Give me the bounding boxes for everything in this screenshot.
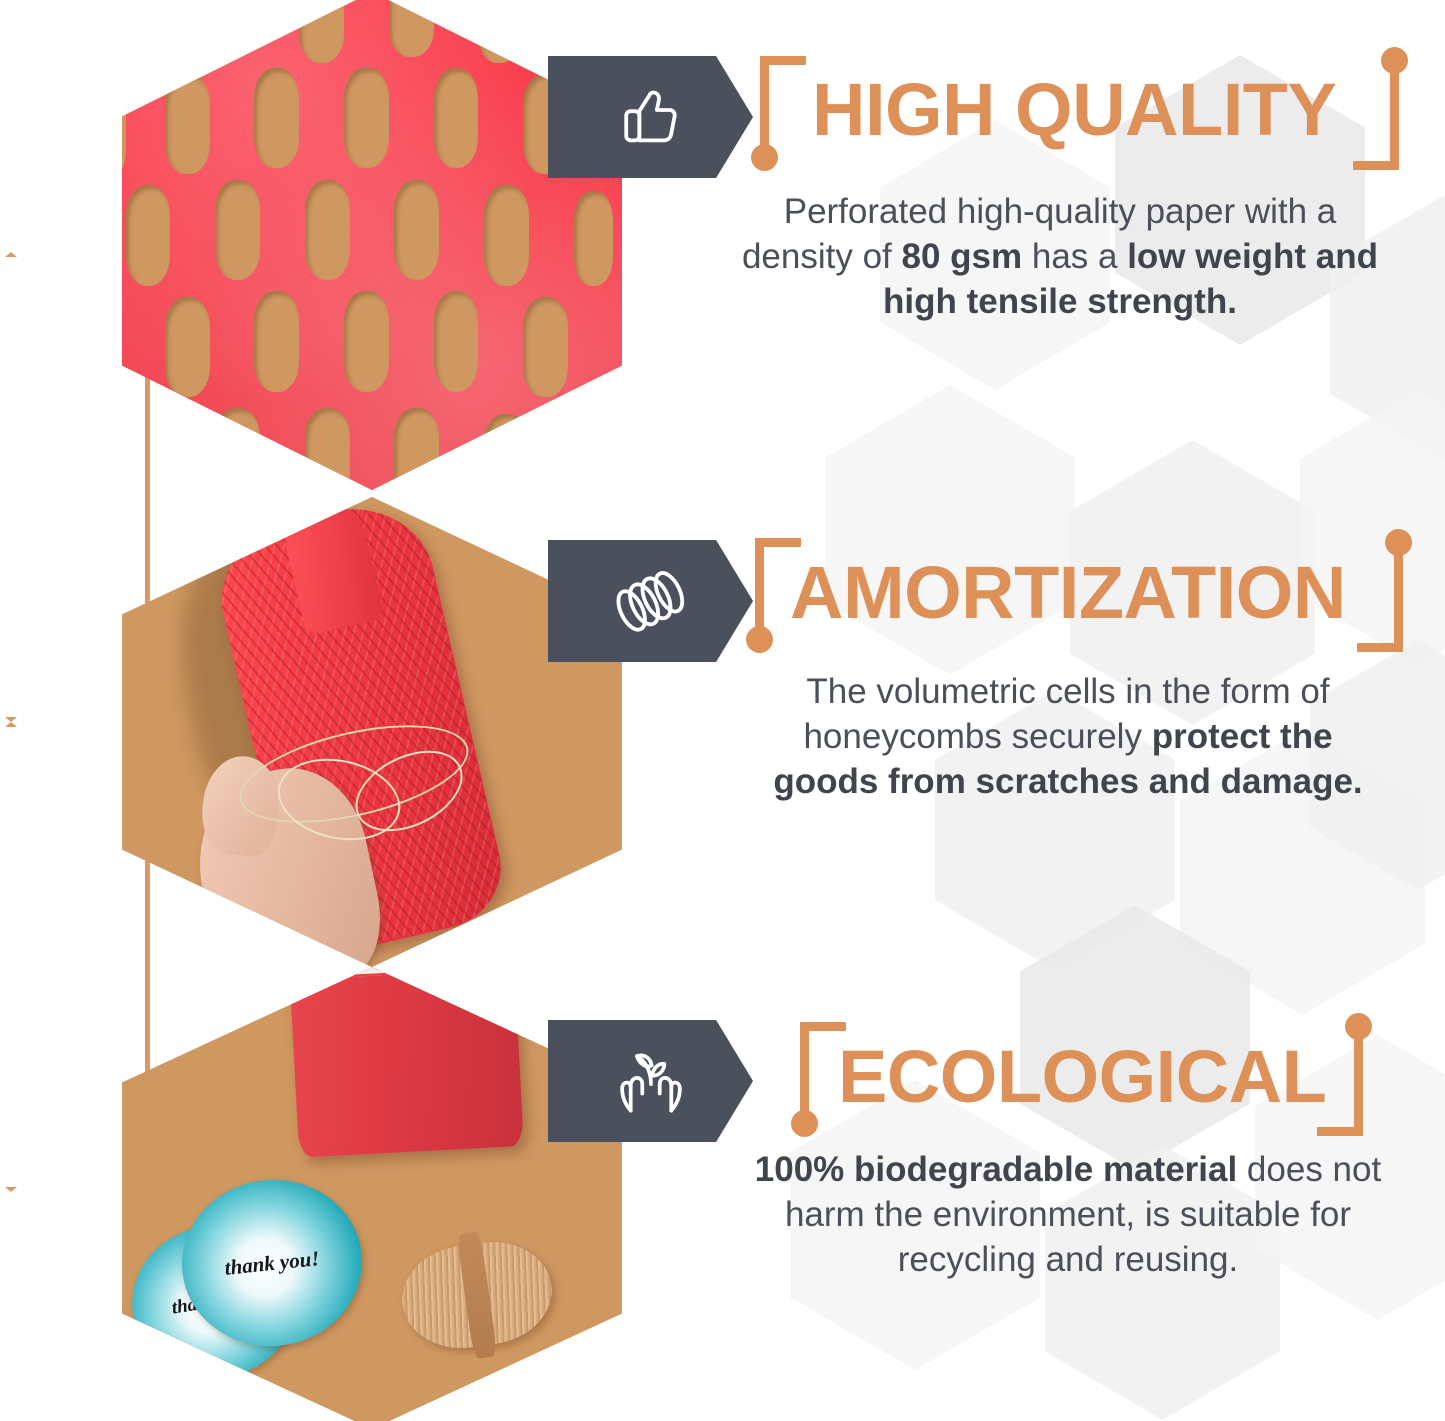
feature-body: The volumetric cells in the form of hone… — [752, 670, 1384, 804]
sticker-text: thank you! — [224, 1248, 321, 1277]
body-segment-bold: 80 gsm — [902, 237, 1023, 276]
heading-bracket-right — [1348, 542, 1403, 652]
feature-title: ECOLOGICAL — [838, 1040, 1326, 1114]
hand-holding-wrapped-bottle-photo — [122, 497, 622, 967]
spring-coil-icon — [608, 564, 694, 638]
heading-bracket-right — [1344, 60, 1399, 170]
roll-stickers-twine-photo: Handle with care J KEEP DRY UPWARDS than… — [122, 967, 622, 1421]
paper-roll: Handle with care J KEEP DRY UPWARDS — [285, 967, 524, 1158]
jute-twine-bundle — [396, 1234, 559, 1356]
thumbs-up-icon — [615, 82, 687, 152]
label-cell: Handle with care — [296, 967, 352, 978]
label-cell: KEEP DRY — [401, 967, 457, 972]
feature-title: HIGH QUALITY — [812, 73, 1336, 147]
feature-tag-high-quality — [548, 56, 753, 178]
feature-tag-amortization — [548, 540, 753, 662]
hands-holding-plant-icon — [611, 1042, 691, 1120]
body-segment: has a — [1022, 237, 1127, 276]
feature-title: AMORTIZATION — [790, 556, 1346, 630]
label-cell: J — [349, 967, 405, 975]
feature-body: 100% biodegradable material does not har… — [752, 1148, 1384, 1282]
feature-tag-ecological — [548, 1020, 753, 1142]
feature-body: Perforated high-quality paper with a den… — [735, 190, 1385, 324]
body-segment-bold: 100% biodegradable material — [755, 1150, 1237, 1189]
infographic-canvas: Handle with care J KEEP DRY UPWARDS than… — [0, 0, 1445, 1421]
label-cell: UPWARDS — [453, 967, 507, 970]
perforated-honeycomb-paper-photo — [122, 0, 622, 490]
shipping-label: Handle with care J KEEP DRY UPWARDS — [294, 967, 509, 979]
